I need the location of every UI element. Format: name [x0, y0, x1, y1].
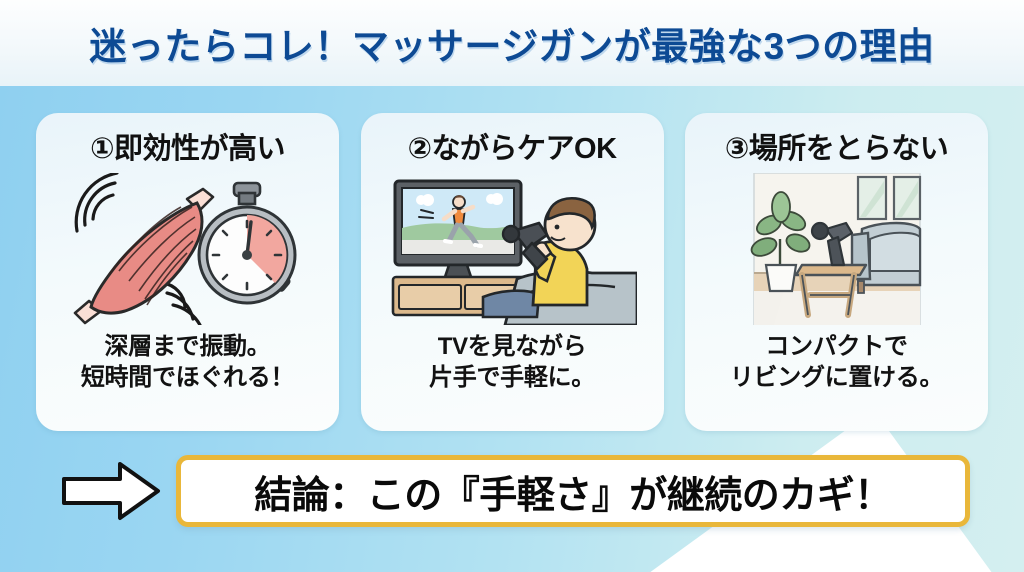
reason-card-3-caption-line2: リビングに置ける。	[730, 362, 943, 393]
reason-card-2-caption: TVを見ながら 片手で手軽に。	[429, 331, 595, 393]
reason-card-1-heading: ①即効性が高い	[90, 125, 285, 167]
reason-card-2-caption-line1: TVを見ながら	[429, 331, 595, 362]
living-room-icon	[712, 173, 962, 325]
reason-card-1-caption-line2: 短時間でほぐれる！	[81, 362, 294, 393]
content-stage: ①即効性が高い	[0, 86, 1024, 572]
reason-card-3[interactable]: ③場所をとらない	[685, 113, 988, 431]
conclusion-text: 結論：この『手軽さ』が継続のカギ！	[254, 464, 892, 519]
reason-card-1[interactable]: ①即効性が高い	[36, 113, 339, 431]
reason-card-3-caption: コンパクトで リビングに置ける。	[730, 331, 943, 393]
conclusion-banner[interactable]: 結論：この『手軽さ』が継続のカギ！	[176, 455, 970, 527]
reason-card-3-heading: ③場所をとらない	[725, 125, 949, 167]
reason-card-1-caption: 深層まで振動。 短時間でほぐれる！	[81, 331, 294, 393]
reason-card-2-caption-line2: 片手で手軽に。	[429, 362, 595, 393]
reason-card-1-caption-line1: 深層まで振動。	[81, 331, 294, 362]
reason-cards-row: ①即効性が高い	[36, 113, 988, 431]
conclusion-row: 結論：この『手軽さ』が継続のカギ！	[58, 452, 970, 530]
tv-massage-gun-icon	[387, 173, 637, 325]
reason-card-2-heading: ②ながらケアOK	[407, 125, 616, 167]
right-arrow-icon	[58, 458, 166, 524]
header-band: 迷ったらコレ！マッサージガンが最強な3つの理由	[0, 0, 1024, 86]
reason-card-3-caption-line1: コンパクトで	[730, 331, 943, 362]
page-title: 迷ったらコレ！マッサージガンが最強な3つの理由	[89, 16, 934, 70]
reason-card-2[interactable]: ②ながらケアOK	[361, 113, 664, 431]
muscle-stopwatch-icon	[63, 173, 313, 325]
